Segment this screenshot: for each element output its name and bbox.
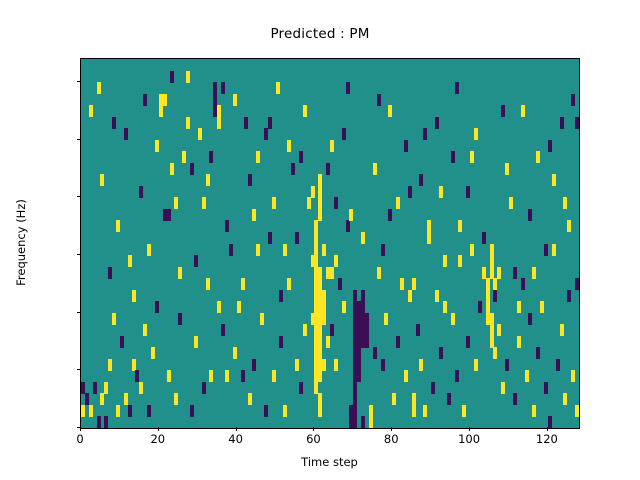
heatmap-cell	[217, 301, 221, 313]
heatmap-cell	[365, 336, 369, 348]
heatmap-cell	[361, 416, 365, 428]
heatmap-cell	[89, 405, 93, 417]
heatmap-cell	[443, 255, 447, 267]
heatmap-cell	[548, 416, 552, 428]
heatmap-cell	[213, 82, 217, 94]
heatmap-cell	[513, 393, 517, 405]
heatmap-cell	[295, 359, 299, 371]
heatmap-cell	[458, 220, 462, 232]
heatmap-cell	[225, 370, 229, 382]
heatmap-cell	[299, 382, 303, 394]
heatmap-cell	[268, 232, 272, 244]
heatmap-cell	[458, 255, 462, 267]
heatmap-cell	[217, 105, 221, 117]
y-tick-mark	[77, 427, 81, 428]
heatmap-cell	[478, 301, 482, 313]
heatmap-cell	[213, 94, 217, 106]
heatmap-cell	[209, 151, 213, 163]
heatmap-cell	[112, 313, 116, 325]
heatmap-cell	[233, 347, 237, 359]
heatmap-cell	[322, 290, 326, 302]
heatmap-cell	[408, 290, 412, 302]
heatmap-cell	[194, 255, 198, 267]
heatmap-cell	[85, 393, 89, 405]
heatmap-cell	[435, 117, 439, 129]
x-tick-label: 60	[306, 432, 321, 446]
heatmap-cell	[194, 336, 198, 348]
heatmap-cell	[314, 232, 318, 244]
heatmap-cell	[209, 370, 213, 382]
heatmap-cell	[330, 140, 334, 152]
heatmap-cell	[486, 290, 490, 302]
heatmap-cell	[412, 278, 416, 290]
heatmap-cell	[167, 370, 171, 382]
heatmap-cell	[81, 382, 85, 394]
heatmap-cell	[365, 313, 369, 325]
heatmap-cell	[412, 393, 416, 405]
heatmap-cell	[124, 393, 128, 405]
heatmap-cell	[244, 117, 248, 129]
heatmap-cell	[505, 359, 509, 371]
heatmap-cell	[369, 405, 373, 417]
heatmap-cell	[338, 278, 342, 290]
x-tick-mark	[80, 427, 81, 431]
heatmap-cell	[443, 301, 447, 313]
heatmap-cell	[163, 94, 167, 106]
heatmap-cell	[470, 244, 474, 256]
heatmap-cell	[322, 359, 326, 371]
heatmap-cell	[318, 393, 322, 405]
heatmap-cell	[384, 313, 388, 325]
heatmap-cell	[462, 405, 466, 417]
heatmap-cell	[303, 324, 307, 336]
heatmap-cell	[552, 244, 556, 256]
heatmap-cell	[283, 405, 287, 417]
heatmap-cell	[186, 71, 190, 83]
heatmap-cell	[353, 416, 357, 428]
heatmap-cell	[100, 393, 104, 405]
heatmap-cell	[330, 267, 334, 279]
heatmap-cell	[532, 405, 536, 417]
heatmap-cell	[272, 197, 276, 209]
heatmap-cell	[419, 359, 423, 371]
heatmap-cell	[241, 278, 245, 290]
heatmap-cell	[416, 324, 420, 336]
heatmap-cell	[532, 267, 536, 279]
heatmap-cell	[128, 255, 132, 267]
y-tick-mark	[77, 196, 81, 197]
heatmap-cell	[314, 255, 318, 267]
heatmap-cell	[93, 382, 97, 394]
chart-title: Predicted : PM	[0, 26, 640, 42]
heatmap-cell	[361, 232, 365, 244]
heatmap-cell	[560, 324, 564, 336]
heatmap-cell	[439, 186, 443, 198]
heatmap-cell	[307, 197, 311, 209]
x-axis-label: Time step	[80, 455, 579, 469]
heatmap-cell	[318, 336, 322, 348]
heatmap-cell	[455, 82, 459, 94]
heatmap-cell	[252, 209, 256, 221]
heatmap-cell	[186, 117, 190, 129]
heatmap-cell	[377, 94, 381, 106]
heatmap-cell	[377, 267, 381, 279]
heatmap-axes	[80, 58, 580, 429]
heatmap-cell	[334, 359, 338, 371]
heatmap-cell	[353, 393, 357, 405]
heatmap-cell	[170, 163, 174, 175]
heatmap-cell	[404, 370, 408, 382]
x-tick-mark	[236, 427, 237, 431]
heatmap-cell	[120, 336, 124, 348]
x-tick-label: 100	[458, 432, 480, 446]
heatmap-cell	[256, 244, 260, 256]
heatmap-cell	[283, 244, 287, 256]
heatmap-cell	[381, 359, 385, 371]
heatmap-cell	[493, 290, 497, 302]
heatmap-cell	[190, 163, 194, 175]
heatmap-cell	[155, 301, 159, 313]
heatmap-cell	[490, 336, 494, 348]
heatmap-cell	[548, 140, 552, 152]
heatmap-cell	[322, 313, 326, 325]
heatmap-cell	[174, 197, 178, 209]
heatmap-cell	[229, 244, 233, 256]
heatmap-cell	[490, 255, 494, 267]
heatmap-cell	[225, 220, 229, 232]
heatmap-cell	[132, 290, 136, 302]
heatmap-cell	[493, 347, 497, 359]
heatmap-cells	[81, 59, 579, 428]
heatmap-cell	[560, 117, 564, 129]
heatmap-cell	[388, 105, 392, 117]
heatmap-cell	[490, 324, 494, 336]
heatmap-cell	[342, 301, 346, 313]
heatmap-cell	[143, 324, 147, 336]
heatmap-cell	[490, 267, 494, 279]
heatmap-cell	[497, 324, 501, 336]
heatmap-cell	[174, 393, 178, 405]
heatmap-cell	[423, 405, 427, 417]
heatmap-cell	[509, 197, 513, 209]
y-tick-mark	[77, 369, 81, 370]
heatmap-cell	[139, 186, 143, 198]
heatmap-cell	[318, 209, 322, 221]
heatmap-cell	[466, 336, 470, 348]
heatmap-cell	[571, 370, 575, 382]
heatmap-cell	[400, 278, 404, 290]
heatmap-cell	[139, 382, 143, 394]
heatmap-cell	[501, 105, 505, 117]
heatmap-cell	[334, 197, 338, 209]
heatmap-cell	[97, 82, 101, 94]
heatmap-cell	[447, 393, 451, 405]
heatmap-cell	[556, 359, 560, 371]
heatmap-cell	[318, 197, 322, 209]
heatmap-cell	[206, 174, 210, 186]
heatmap-cell	[365, 324, 369, 336]
heatmap-cell	[455, 370, 459, 382]
heatmap-cell	[264, 128, 268, 140]
x-tick-label: 40	[228, 432, 243, 446]
y-axis-label: Frequency (Hz)	[14, 58, 28, 427]
heatmap-cell	[124, 128, 128, 140]
heatmap-cell	[248, 393, 252, 405]
heatmap-cell	[353, 382, 357, 394]
x-tick-label: 80	[384, 432, 399, 446]
heatmap-cell	[563, 393, 567, 405]
x-tick-mark	[158, 427, 159, 431]
heatmap-cell	[474, 359, 478, 371]
heatmap-cell	[104, 382, 108, 394]
heatmap-cell	[528, 209, 532, 221]
heatmap-cell	[540, 301, 544, 313]
heatmap-cell	[431, 382, 435, 394]
x-tick-mark	[547, 427, 548, 431]
heatmap-cell	[349, 209, 353, 221]
heatmap-cell	[346, 82, 350, 94]
heatmap-cell	[427, 220, 431, 232]
heatmap-cell	[373, 163, 377, 175]
heatmap-cell	[318, 347, 322, 359]
heatmap-cell	[408, 186, 412, 198]
heatmap-cell	[276, 82, 280, 94]
heatmap-cell	[567, 290, 571, 302]
heatmap-cell	[132, 359, 136, 371]
heatmap-cell	[369, 416, 373, 428]
x-tick-mark	[391, 427, 392, 431]
heatmap-cell	[108, 267, 112, 279]
heatmap-cell	[89, 105, 93, 117]
heatmap-cell	[521, 278, 525, 290]
heatmap-cell	[182, 151, 186, 163]
heatmap-cell	[81, 405, 85, 417]
heatmap-cell	[396, 336, 400, 348]
heatmap-cell	[490, 313, 494, 325]
heatmap-cell	[466, 186, 470, 198]
heatmap-cell	[575, 405, 579, 417]
heatmap-cell	[178, 267, 182, 279]
heatmap-cell	[330, 324, 334, 336]
heatmap-cell	[392, 393, 396, 405]
heatmap-cell	[318, 278, 322, 290]
x-tick-mark	[313, 427, 314, 431]
heatmap-cell	[451, 151, 455, 163]
heatmap-cell	[318, 267, 322, 279]
heatmap-cell	[353, 405, 357, 417]
heatmap-cell	[264, 405, 268, 417]
x-tick-mark	[469, 427, 470, 431]
heatmap-cell	[470, 151, 474, 163]
heatmap-cell	[357, 359, 361, 371]
heatmap-cell	[439, 347, 443, 359]
heatmap-cell	[517, 301, 521, 313]
heatmap-cell	[373, 347, 377, 359]
heatmap-cell	[108, 359, 112, 371]
heatmap-cell	[299, 151, 303, 163]
heatmap-cell	[314, 220, 318, 232]
heatmap-cell	[202, 197, 206, 209]
heatmap-cell	[256, 151, 260, 163]
heatmap-cell	[517, 336, 521, 348]
heatmap-cell	[155, 140, 159, 152]
heatmap-cell	[342, 128, 346, 140]
heatmap-cell	[435, 290, 439, 302]
heatmap-cell	[272, 370, 276, 382]
heatmap-cell	[314, 244, 318, 256]
heatmap-cell	[544, 244, 548, 256]
heatmap-cell	[563, 197, 567, 209]
heatmap-cell	[217, 117, 221, 129]
heatmap-cell	[206, 278, 210, 290]
heatmap-cell	[303, 105, 307, 117]
heatmap-cell	[167, 209, 171, 221]
heatmap-cell	[505, 163, 509, 175]
heatmap-cell	[143, 94, 147, 106]
heatmap-cell	[170, 71, 174, 83]
heatmap-cell	[361, 290, 365, 302]
heatmap-cell	[493, 278, 497, 290]
heatmap-cell	[497, 267, 501, 279]
heatmap-cell	[279, 336, 283, 348]
heatmap-cell	[221, 324, 225, 336]
heatmap-cell	[404, 140, 408, 152]
heatmap-cell	[322, 301, 326, 313]
heatmap-cell	[451, 313, 455, 325]
heatmap-cell	[97, 416, 101, 428]
heatmap-cell	[233, 94, 237, 106]
heatmap-cell	[381, 244, 385, 256]
x-tick-label: 0	[76, 432, 83, 446]
heatmap-cell	[486, 301, 490, 313]
heatmap-cell	[571, 94, 575, 106]
heatmap-cell	[357, 347, 361, 359]
heatmap-cell	[128, 405, 132, 417]
x-tick-label: 20	[150, 432, 165, 446]
y-tick-mark	[77, 139, 81, 140]
heatmap-cell	[237, 301, 241, 313]
heatmap-cell	[501, 382, 505, 394]
heatmap-cell	[268, 117, 272, 129]
heatmap-cell	[396, 197, 400, 209]
heatmap-cell	[287, 140, 291, 152]
heatmap-cell	[334, 255, 338, 267]
heatmap-cell	[567, 220, 571, 232]
heatmap-cell	[248, 174, 252, 186]
heatmap-cell	[202, 382, 206, 394]
figure-canvas: Predicted : PM 020406080100120 020000400…	[0, 0, 640, 480]
heatmap-cell	[190, 405, 194, 417]
heatmap-cell	[147, 405, 151, 417]
heatmap-cell	[482, 232, 486, 244]
heatmap-cell	[528, 313, 532, 325]
heatmap-cell	[318, 370, 322, 382]
heatmap-cell	[116, 405, 120, 417]
heatmap-cell	[221, 82, 225, 94]
y-tick-mark	[77, 254, 81, 255]
heatmap-cell	[318, 324, 322, 336]
heatmap-cell	[116, 220, 120, 232]
heatmap-cell	[279, 290, 283, 302]
heatmap-cell	[388, 209, 392, 221]
heatmap-cell	[419, 174, 423, 186]
heatmap-cell	[490, 244, 494, 256]
heatmap-cell	[112, 117, 116, 129]
heatmap-cell	[544, 382, 548, 394]
heatmap-cell	[326, 163, 330, 175]
heatmap-cell	[147, 244, 151, 256]
heatmap-cell	[318, 186, 322, 198]
heatmap-cell	[575, 117, 579, 129]
heatmap-cell	[178, 313, 182, 325]
heatmap-cell	[525, 370, 529, 382]
heatmap-cell	[412, 405, 416, 417]
heatmap-cell	[575, 278, 579, 290]
heatmap-cell	[295, 232, 299, 244]
heatmap-cell	[474, 128, 478, 140]
heatmap-cell	[291, 163, 295, 175]
heatmap-cell	[318, 174, 322, 186]
heatmap-cell	[252, 359, 256, 371]
heatmap-cell	[100, 174, 104, 186]
heatmap-cell	[163, 209, 167, 221]
heatmap-cell	[353, 290, 357, 302]
heatmap-cell	[326, 336, 330, 348]
heatmap-cell	[314, 382, 318, 394]
heatmap-cell	[159, 105, 163, 117]
heatmap-cell	[322, 244, 326, 256]
heatmap-cell	[521, 105, 525, 117]
heatmap-cell	[241, 370, 245, 382]
heatmap-cell	[151, 347, 155, 359]
x-tick-label: 120	[536, 432, 558, 446]
y-tick-mark	[77, 312, 81, 313]
heatmap-cell	[536, 347, 540, 359]
heatmap-cell	[423, 128, 427, 140]
heatmap-cell	[198, 128, 202, 140]
heatmap-cell	[536, 151, 540, 163]
heatmap-cell	[104, 416, 108, 428]
heatmap-cell	[311, 186, 315, 198]
heatmap-cell	[260, 313, 264, 325]
heatmap-cell	[482, 267, 486, 279]
heatmap-cell	[486, 278, 490, 290]
heatmap-cell	[135, 370, 139, 382]
heatmap-cell	[361, 301, 365, 313]
heatmap-cell	[427, 232, 431, 244]
heatmap-cell	[552, 174, 556, 186]
heatmap-cell	[287, 278, 291, 290]
y-tick-mark	[77, 81, 81, 82]
heatmap-cell	[357, 370, 361, 382]
heatmap-cell	[346, 220, 350, 232]
heatmap-cell	[513, 267, 517, 279]
heatmap-cell	[318, 405, 322, 417]
